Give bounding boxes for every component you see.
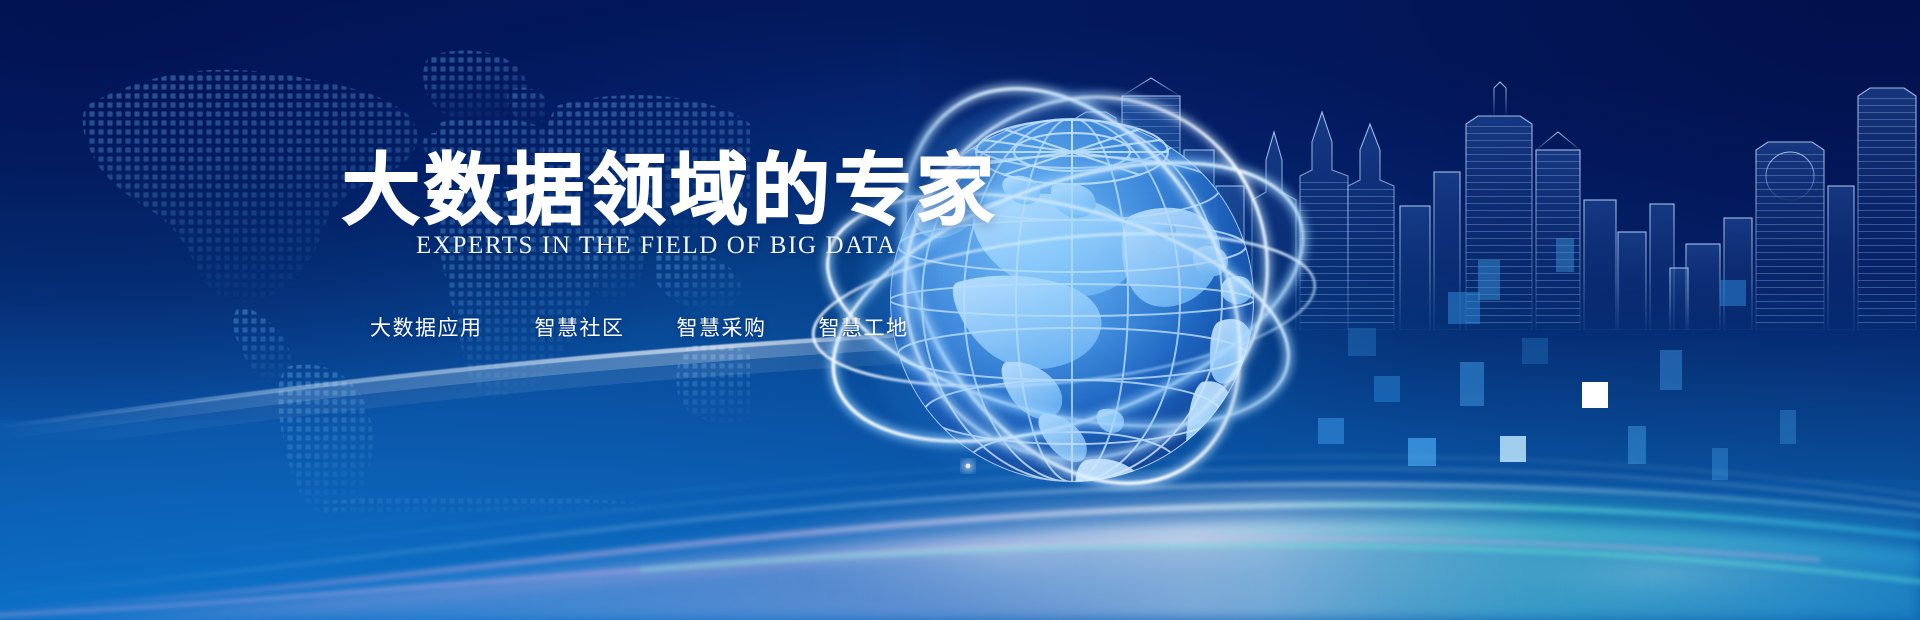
banner-nav: 大数据应用 智慧社区 智慧采购 智慧工地 <box>370 312 909 342</box>
page-title: 大数据领域的专家 <box>342 152 998 230</box>
nav-item-smart-community[interactable]: 智慧社区 <box>535 312 625 342</box>
page-subtitle: EXPERTS IN THE FIELD OF BIG DATA <box>416 232 897 260</box>
nav-item-smart-procurement[interactable]: 智慧采购 <box>677 312 767 342</box>
nav-item-big-data-application[interactable]: 大数据应用 <box>370 312 483 342</box>
big-data-hero-banner: 大数据领域的专家 EXPERTS IN THE FIELD OF BIG DAT… <box>0 0 1920 620</box>
nav-item-smart-construction-site[interactable]: 智慧工地 <box>819 312 909 342</box>
banner-copy-block: 大数据领域的专家 EXPERTS IN THE FIELD OF BIG DAT… <box>0 0 900 620</box>
